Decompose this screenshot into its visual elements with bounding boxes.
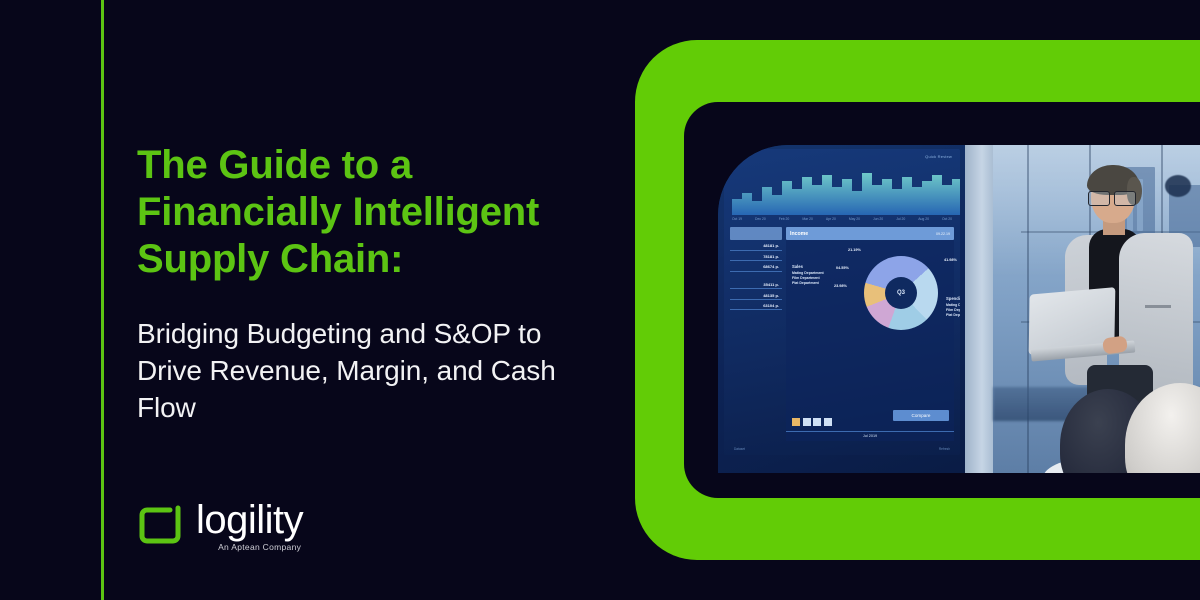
spending-legend-item: Film Department bbox=[946, 308, 960, 312]
axis-tick: Mar 20 bbox=[802, 217, 813, 221]
kpi-value: 48135 p. bbox=[730, 289, 782, 300]
audience-member-gray-hair bbox=[1125, 383, 1200, 473]
logility-open-square-icon bbox=[137, 503, 183, 545]
kpi-value: 63104 p. bbox=[730, 300, 782, 311]
kpi-value: 48181 p. bbox=[730, 240, 782, 251]
presentation-photo: Quick Review Oct 19 Dec 20 bbox=[718, 145, 1200, 473]
jacket-pocket bbox=[1145, 305, 1171, 308]
swatch-blue-1[interactable] bbox=[803, 418, 811, 426]
swatch-blue-2[interactable] bbox=[813, 418, 821, 426]
quick-review-label: Quick Review bbox=[925, 154, 952, 159]
audience-group bbox=[1083, 377, 1200, 473]
refresh-label[interactable]: Refresh bbox=[939, 447, 950, 451]
wall-display: Quick Review Oct 19 Dec 20 bbox=[718, 145, 965, 473]
kpi-value: 68674 p. bbox=[730, 261, 782, 272]
timeline-axis: Oct 19 Dec 20 Feb 20 Mar 20 Apr 20 May 2… bbox=[732, 217, 952, 221]
sales-legend-title: Sales bbox=[792, 264, 803, 269]
sales-legend: Sales Mating Department Film Department … bbox=[792, 264, 824, 287]
wall-pillar bbox=[965, 145, 993, 473]
lens-left bbox=[1088, 191, 1110, 206]
color-swatch-row[interactable] bbox=[792, 418, 832, 426]
axis-tick: Aug 20 bbox=[918, 217, 929, 221]
donut-slice-label: 23.98% bbox=[834, 284, 847, 288]
artwork-composition: Quick Review Oct 19 Dec 20 bbox=[600, 0, 1200, 600]
axis-tick: Jul 20 bbox=[896, 217, 905, 221]
dataset-label: Dataset bbox=[734, 447, 745, 451]
donut-center-label: Q3 bbox=[864, 256, 938, 330]
donut-chart-zone: Sales Mating Department Film Department … bbox=[786, 240, 954, 344]
marketing-hero-banner: The Guide to a Financially Intelligent S… bbox=[0, 0, 1200, 600]
spending-legend-title: Spending Cost bbox=[946, 296, 960, 301]
axis-tick: May 20 bbox=[849, 217, 860, 221]
compare-button[interactable]: Compare bbox=[893, 410, 949, 421]
axis-tick: Jun 20 bbox=[873, 217, 883, 221]
sales-legend-item: Mating Department bbox=[792, 271, 824, 275]
income-panel-title: Income bbox=[790, 231, 808, 237]
donut-slice-label: 41.98% bbox=[944, 258, 957, 262]
swatch-gold[interactable] bbox=[792, 418, 800, 426]
period-label: Jul 2019 bbox=[786, 431, 954, 438]
axis-tick: Dec 20 bbox=[755, 217, 766, 221]
eyeglasses-icon bbox=[1088, 191, 1138, 204]
logo-wordmark: logility bbox=[196, 500, 303, 540]
kpi-sidebar-header bbox=[730, 227, 782, 240]
income-panel-timestamp: 09.22.19 bbox=[936, 232, 950, 236]
axis-tick: Feb 20 bbox=[779, 217, 790, 221]
logility-logo[interactable]: logility An Aptean Company bbox=[137, 500, 303, 552]
spending-legend-item: Mating Department bbox=[946, 303, 960, 307]
dashboard: Quick Review Oct 19 Dec 20 bbox=[724, 149, 960, 455]
axis-tick: Oct 20 bbox=[942, 217, 952, 221]
axis-tick: Apr 20 bbox=[826, 217, 836, 221]
lens-right bbox=[1114, 191, 1136, 206]
dashboard-footer: Dataset Refresh bbox=[734, 447, 950, 451]
donut-slice-label: 21.19% bbox=[848, 248, 861, 252]
income-panel-header: Income 09.22.19 bbox=[786, 227, 954, 240]
page-subtitle: Bridging Budgeting and S&OP to Drive Rev… bbox=[137, 284, 607, 427]
sales-legend-item: Plat Department bbox=[792, 281, 819, 285]
swatch-blue-3[interactable] bbox=[824, 418, 832, 426]
left-accent-rule bbox=[101, 0, 104, 600]
page-title: The Guide to a Financially Intelligent S… bbox=[137, 142, 607, 284]
sales-legend-item: Film Department bbox=[792, 276, 820, 280]
kpi-sidebar: 48181 p. 78181 p. 68674 p. 35411 p. 4813… bbox=[730, 227, 782, 441]
kpi-value: 35411 p. bbox=[730, 279, 782, 290]
office-scene bbox=[965, 145, 1200, 473]
spending-legend-item: Plat Department bbox=[946, 313, 960, 317]
spending-legend: Spending Cost Mating Department Film Dep… bbox=[946, 296, 960, 319]
donut-slice-label: 04.55% bbox=[836, 266, 849, 270]
copy-block: The Guide to a Financially Intelligent S… bbox=[137, 142, 607, 426]
kpi-value: 78181 p. bbox=[730, 251, 782, 262]
axis-tick: Oct 19 bbox=[732, 217, 742, 221]
income-panel: Income 09.22.19 Sales Mating Department … bbox=[786, 227, 954, 441]
logo-text-group: logility An Aptean Company bbox=[196, 500, 303, 552]
area-chart bbox=[732, 165, 960, 215]
